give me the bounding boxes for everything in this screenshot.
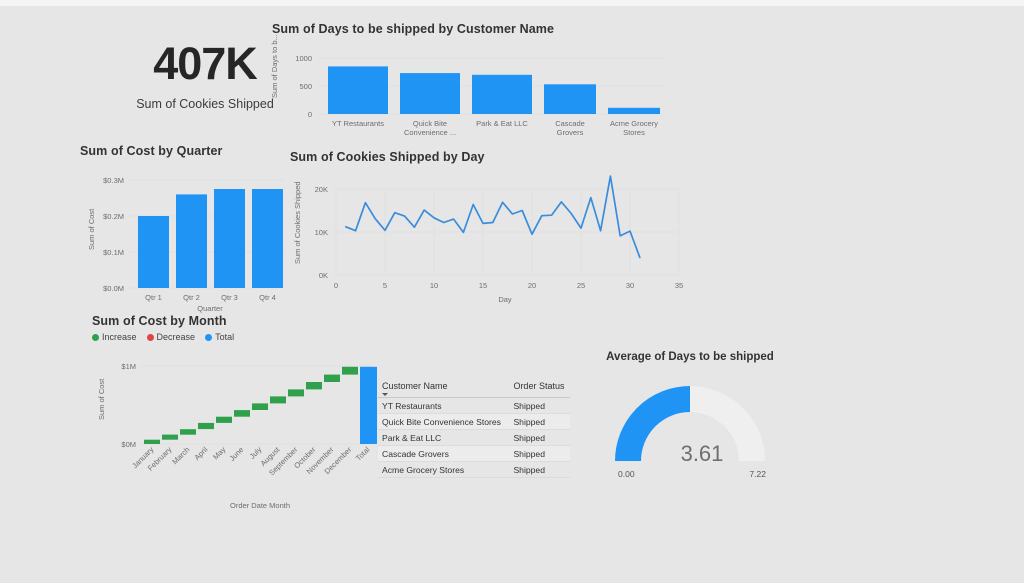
table-head: Customer Name Order Status (378, 379, 570, 398)
x-label-may: May (211, 445, 228, 462)
chart-cost-by-quarter[interactable]: Sum of Cost by Quarter Sum of Cost $0.3M… (80, 144, 295, 319)
customer-bar-svg: Sum of Days to b... 1000 500 0 YT Restau… (272, 36, 672, 136)
cell-order-status: Shipped (509, 430, 570, 446)
column-header-label: Customer Name (382, 381, 448, 391)
y-tick-02m: $0.2M (103, 212, 124, 221)
legend-item-decrease[interactable]: Decrease (147, 332, 196, 342)
x-tick-5: 5 (383, 281, 387, 290)
waterfall-bar-may[interactable] (216, 417, 232, 423)
x-label-total: Total (354, 445, 372, 463)
waterfall-bar-april[interactable] (198, 423, 214, 429)
cell-order-status: Shipped (509, 446, 570, 462)
legend-label-total: Total (215, 332, 234, 342)
data-table: Customer Name Order Status YT Restaurant… (378, 379, 570, 478)
y-axis-title: Sum of Cost (87, 208, 96, 250)
waterfall-bar-december[interactable] (342, 367, 358, 375)
bar-qtr-2[interactable] (176, 194, 207, 288)
x-tick-0: 0 (334, 281, 338, 290)
x-label-june: June (228, 445, 246, 463)
cell-customer-name: Acme Grocery Stores (378, 462, 509, 478)
gauge-value-label: 3.61 (681, 441, 724, 466)
x-label-acme-line2: Stores (623, 128, 645, 137)
x-axis-title: Day (498, 295, 512, 304)
y-tick-03m: $0.3M (103, 176, 124, 185)
x-label-quick-bite-line1: Quick Bite (413, 119, 447, 128)
gauge-svg: 3.61 0.00 7.22 (590, 369, 790, 479)
sort-descending-icon[interactable] (382, 393, 388, 396)
y-tick-0m: $0M (121, 440, 136, 449)
y-tick-0k: 0K (319, 271, 328, 280)
cell-customer-name: Cascade Grovers (378, 446, 509, 462)
y-tick-0: 0 (308, 110, 312, 119)
gauge-average-days-to-be-shipped[interactable]: Average of Days to be shipped 3.61 0.00 … (590, 351, 790, 481)
cell-order-status: Shipped (509, 462, 570, 478)
chart-title: Sum of Cookies Shipped by Day (290, 150, 690, 164)
report-canvas: 407K Sum of Cookies Shipped Sum of Days … (0, 6, 1024, 583)
chart-title: Sum of Cost by Quarter (80, 144, 295, 158)
chart-cost-by-month-waterfall[interactable]: Sum of Cost by Month Increase Decrease T… (92, 314, 382, 524)
x-label-yt-restaurants: YT Restaurants (332, 119, 384, 128)
waterfall-bar-june[interactable] (234, 410, 250, 417)
quarter-bar-svg: Sum of Cost $0.3M $0.2M $0.1M $0.0M Qtr … (80, 158, 295, 313)
x-label-qtr-4: Qtr 4 (259, 293, 276, 302)
table-body: YT Restaurants Shipped Quick Bite Conven… (378, 398, 570, 478)
x-tick-10: 10 (430, 281, 438, 290)
bar-qtr-4[interactable] (252, 189, 283, 288)
y-tick-1000: 1000 (295, 54, 312, 63)
cell-customer-name: YT Restaurants (378, 398, 509, 414)
legend-dot-total (205, 334, 212, 341)
cell-customer-name: Park & Eat LLC (378, 430, 509, 446)
chart-days-shipped-by-customer[interactable]: Sum of Days to be shipped by Customer Na… (272, 22, 672, 142)
waterfall-bar-september[interactable] (288, 389, 304, 396)
x-label-qtr-2: Qtr 2 (183, 293, 200, 302)
x-label-qtr-3: Qtr 3 (221, 293, 238, 302)
waterfall-svg: Sum of Cost $1M $0M January Febr (92, 358, 382, 528)
bar-park-eat[interactable] (472, 75, 532, 114)
y-tick-1m: $1M (121, 362, 136, 371)
column-header-order-status[interactable]: Order Status (509, 379, 570, 398)
chart-title: Sum of Days to be shipped by Customer Na… (272, 22, 672, 36)
gauge-title: Average of Days to be shipped (590, 351, 790, 363)
y-axis-title: Sum of Days to b... (270, 34, 279, 98)
column-header-customer-name[interactable]: Customer Name (378, 379, 509, 398)
day-line-svg: Sum of Cookies Shipped 20K 10K 0K 0 5 10… (290, 164, 690, 309)
x-label-quick-bite-line2: Convenience ... (404, 128, 456, 137)
gauge-min-label: 0.00 (618, 469, 635, 479)
table-row[interactable]: Cascade Grovers Shipped (378, 446, 570, 462)
legend-label-increase: Increase (102, 332, 137, 342)
cell-order-status: Shipped (509, 398, 570, 414)
bar-qtr-3[interactable] (214, 189, 245, 288)
waterfall-bar-march[interactable] (180, 429, 196, 435)
waterfall-bar-february[interactable] (162, 435, 178, 440)
x-label-april: April (192, 445, 209, 462)
waterfall-bar-total[interactable] (360, 367, 377, 444)
x-tick-15: 15 (479, 281, 487, 290)
x-tick-20: 20 (528, 281, 536, 290)
x-label-qtr-1: Qtr 1 (145, 293, 162, 302)
legend-label-decrease: Decrease (157, 332, 196, 342)
legend-dot-increase (92, 334, 99, 341)
bar-yt-restaurants[interactable] (328, 66, 388, 114)
y-axis-title: Sum of Cookies Shipped (293, 181, 302, 264)
bar-acme-grocery[interactable] (608, 108, 660, 114)
table-customer-order-status[interactable]: Customer Name Order Status YT Restaurant… (378, 379, 570, 478)
y-tick-00m: $0.0M (103, 284, 124, 293)
table-row[interactable]: Acme Grocery Stores Shipped (378, 462, 570, 478)
x-tick-35: 35 (675, 281, 683, 290)
x-axis-title: Order Date Month (230, 501, 290, 510)
x-label-park-eat: Park & Eat LLC (476, 119, 528, 128)
legend-item-increase[interactable]: Increase (92, 332, 137, 342)
line-series-cookies-shipped (346, 176, 640, 257)
bar-qtr-1[interactable] (138, 216, 169, 288)
table-header-row: Customer Name Order Status (378, 379, 570, 398)
waterfall-bar-november[interactable] (324, 375, 340, 382)
waterfall-bar-august[interactable] (270, 396, 286, 403)
x-tick-25: 25 (577, 281, 585, 290)
y-tick-500: 500 (299, 82, 312, 91)
cell-customer-name: Quick Bite Convenience Stores (378, 414, 509, 430)
table-row[interactable]: YT Restaurants Shipped (378, 398, 570, 414)
waterfall-bar-october[interactable] (306, 382, 322, 389)
bar-cascade-grovers[interactable] (544, 84, 596, 114)
x-label-cascade-line2: Grovers (557, 128, 584, 137)
cell-order-status: Shipped (509, 414, 570, 430)
bar-quick-bite[interactable] (400, 73, 460, 114)
legend-dot-decrease (147, 334, 154, 341)
column-header-label: Order Status (513, 381, 564, 391)
legend-item-total[interactable]: Total (205, 332, 234, 342)
table-row[interactable]: Park & Eat LLC Shipped (378, 430, 570, 446)
y-tick-10k: 10K (315, 228, 328, 237)
y-axis-title: Sum of Cost (97, 378, 106, 420)
table-row[interactable]: Quick Bite Convenience Stores Shipped (378, 414, 570, 430)
chart-cookies-shipped-by-day[interactable]: Sum of Cookies Shipped by Day Sum of Coo… (290, 150, 690, 315)
y-tick-20k: 20K (315, 185, 328, 194)
x-axis-title: Quarter (197, 304, 223, 313)
waterfall-bar-january[interactable] (144, 440, 160, 444)
gauge-max-label: 7.22 (749, 469, 766, 479)
waterfall-bar-july[interactable] (252, 403, 268, 410)
y-tick-01m: $0.1M (103, 248, 124, 257)
x-label-march: March (170, 445, 191, 466)
x-label-cascade-line1: Cascade (555, 119, 585, 128)
chart-title: Sum of Cost by Month (92, 314, 382, 328)
x-tick-30: 30 (626, 281, 634, 290)
waterfall-legend: Increase Decrease Total (92, 332, 382, 342)
x-label-acme-line1: Acme Grocery (610, 119, 658, 128)
